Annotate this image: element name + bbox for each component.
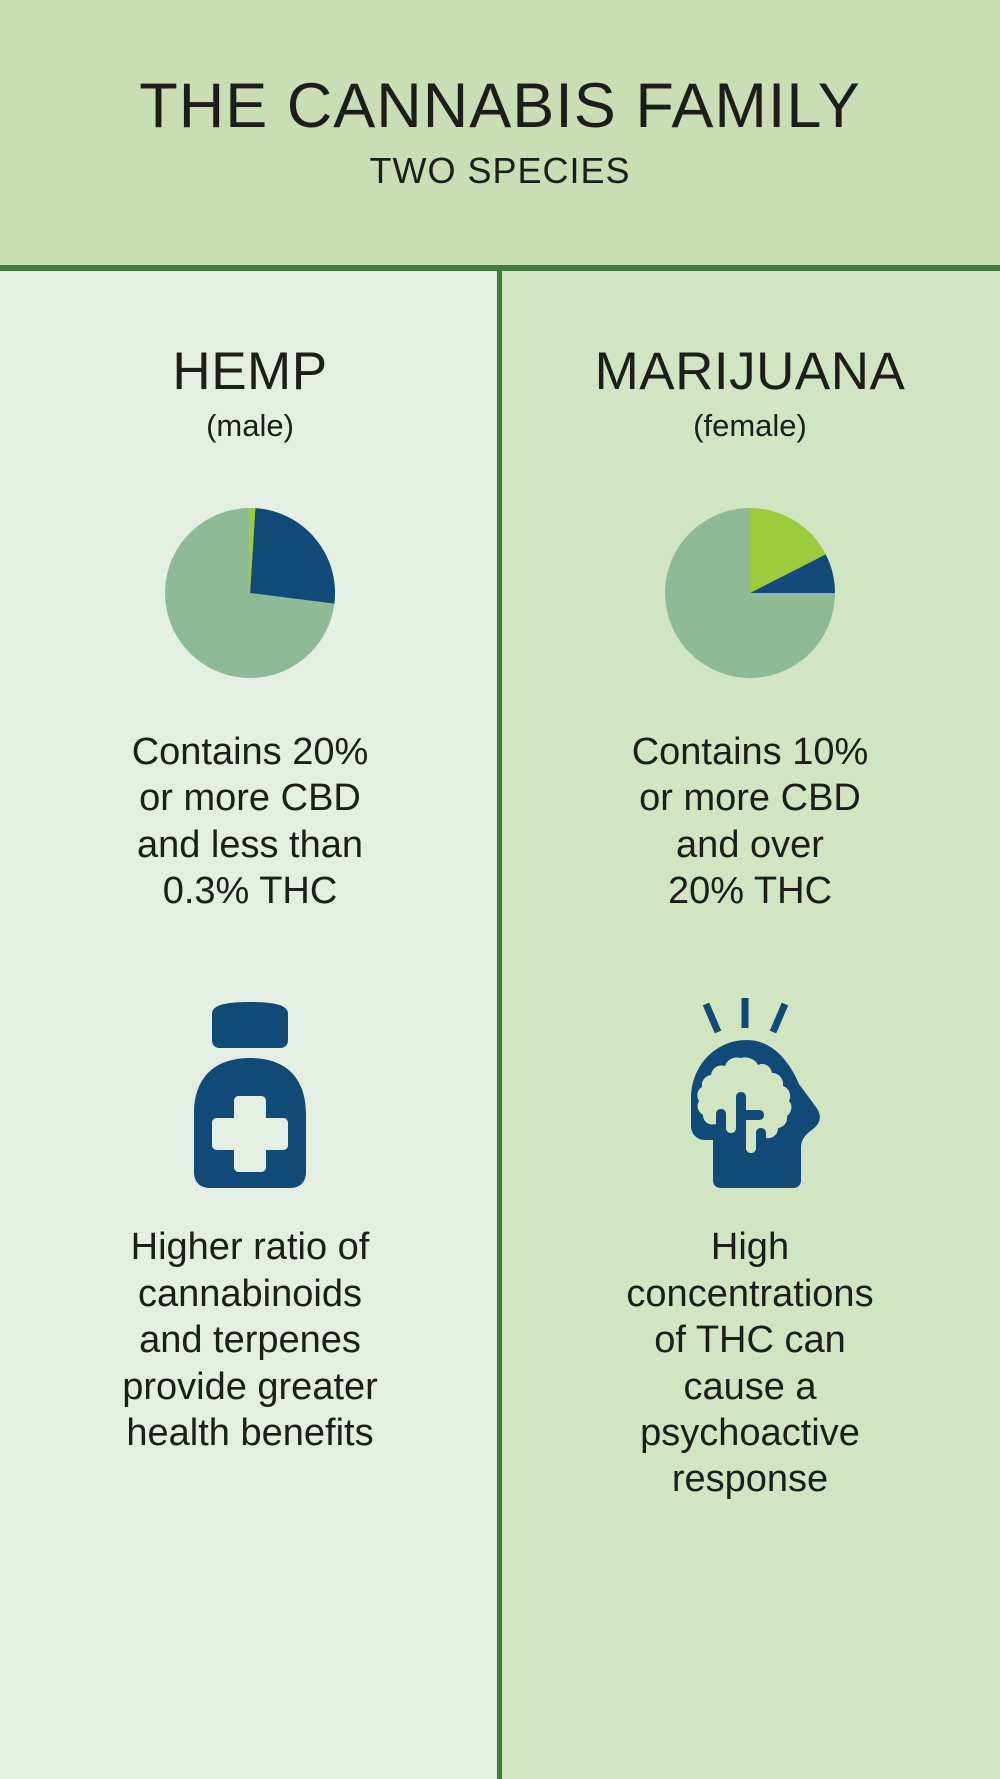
- infographic-page: THE CANNABIS FAMILY TWO SPECIES HEMP (ma…: [0, 0, 1000, 1779]
- column-sex-hemp: (male): [206, 410, 294, 441]
- page-title: THE CANNABIS FAMILY: [139, 73, 860, 139]
- stat-text-hemp: Contains 20% or more CBD and less than 0…: [132, 729, 369, 914]
- column-title-marijuana: MARIJUANA: [595, 271, 906, 398]
- medicine-bottle-icon: [184, 1002, 316, 1188]
- benefit-text-hemp: Higher ratio of cannabinoids and terpene…: [122, 1224, 378, 1456]
- column-hemp: HEMP (male) Contains 20% or more CBD and…: [0, 271, 500, 1779]
- header-banner: THE CANNABIS FAMILY TWO SPECIES: [0, 0, 1000, 265]
- column-marijuana: MARIJUANA (female) Contains 10% or more …: [500, 271, 1000, 1779]
- column-title-hemp: HEMP: [172, 271, 327, 398]
- pie-chart-hemp: [162, 505, 338, 681]
- stat-text-marijuana: Contains 10% or more CBD and over 20% TH…: [632, 729, 869, 914]
- page-subtitle: TWO SPECIES: [369, 150, 630, 192]
- icon-wrap-hemp: [184, 998, 316, 1188]
- benefit-text-marijuana: High concentrations of THC can cause a p…: [626, 1224, 873, 1502]
- icon-wrap-marijuana: [675, 998, 825, 1188]
- column-sex-marijuana: (female): [693, 410, 807, 441]
- spark-line-left: [706, 1004, 718, 1032]
- spark-line-right: [773, 1004, 785, 1032]
- pie-slice-hemp-thc: [250, 508, 335, 603]
- brain-head-icon: [675, 998, 825, 1188]
- pie-chart-marijuana: [662, 505, 838, 681]
- column-divider: [497, 271, 502, 1779]
